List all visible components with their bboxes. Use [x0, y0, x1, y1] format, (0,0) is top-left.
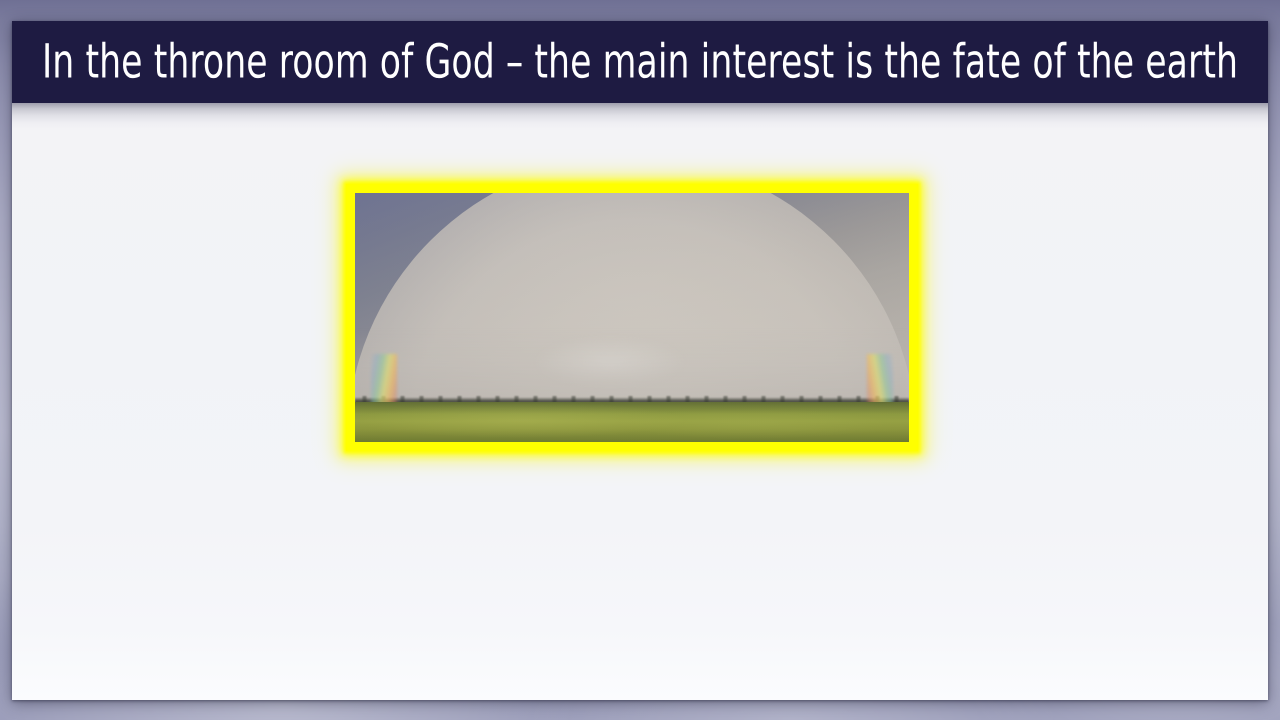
- slide-title-bar: In the throne room of God – the main int…: [12, 21, 1268, 103]
- slide: In the throne room of God – the main int…: [12, 21, 1268, 700]
- rainbow-image-frame[interactable]: [346, 184, 918, 451]
- page-title: In the throne room of God – the main int…: [42, 35, 1238, 90]
- grass-field: [355, 402, 909, 442]
- presentation-backdrop: In the throne room of God – the main int…: [0, 0, 1280, 720]
- rainbow-photo: [355, 193, 909, 442]
